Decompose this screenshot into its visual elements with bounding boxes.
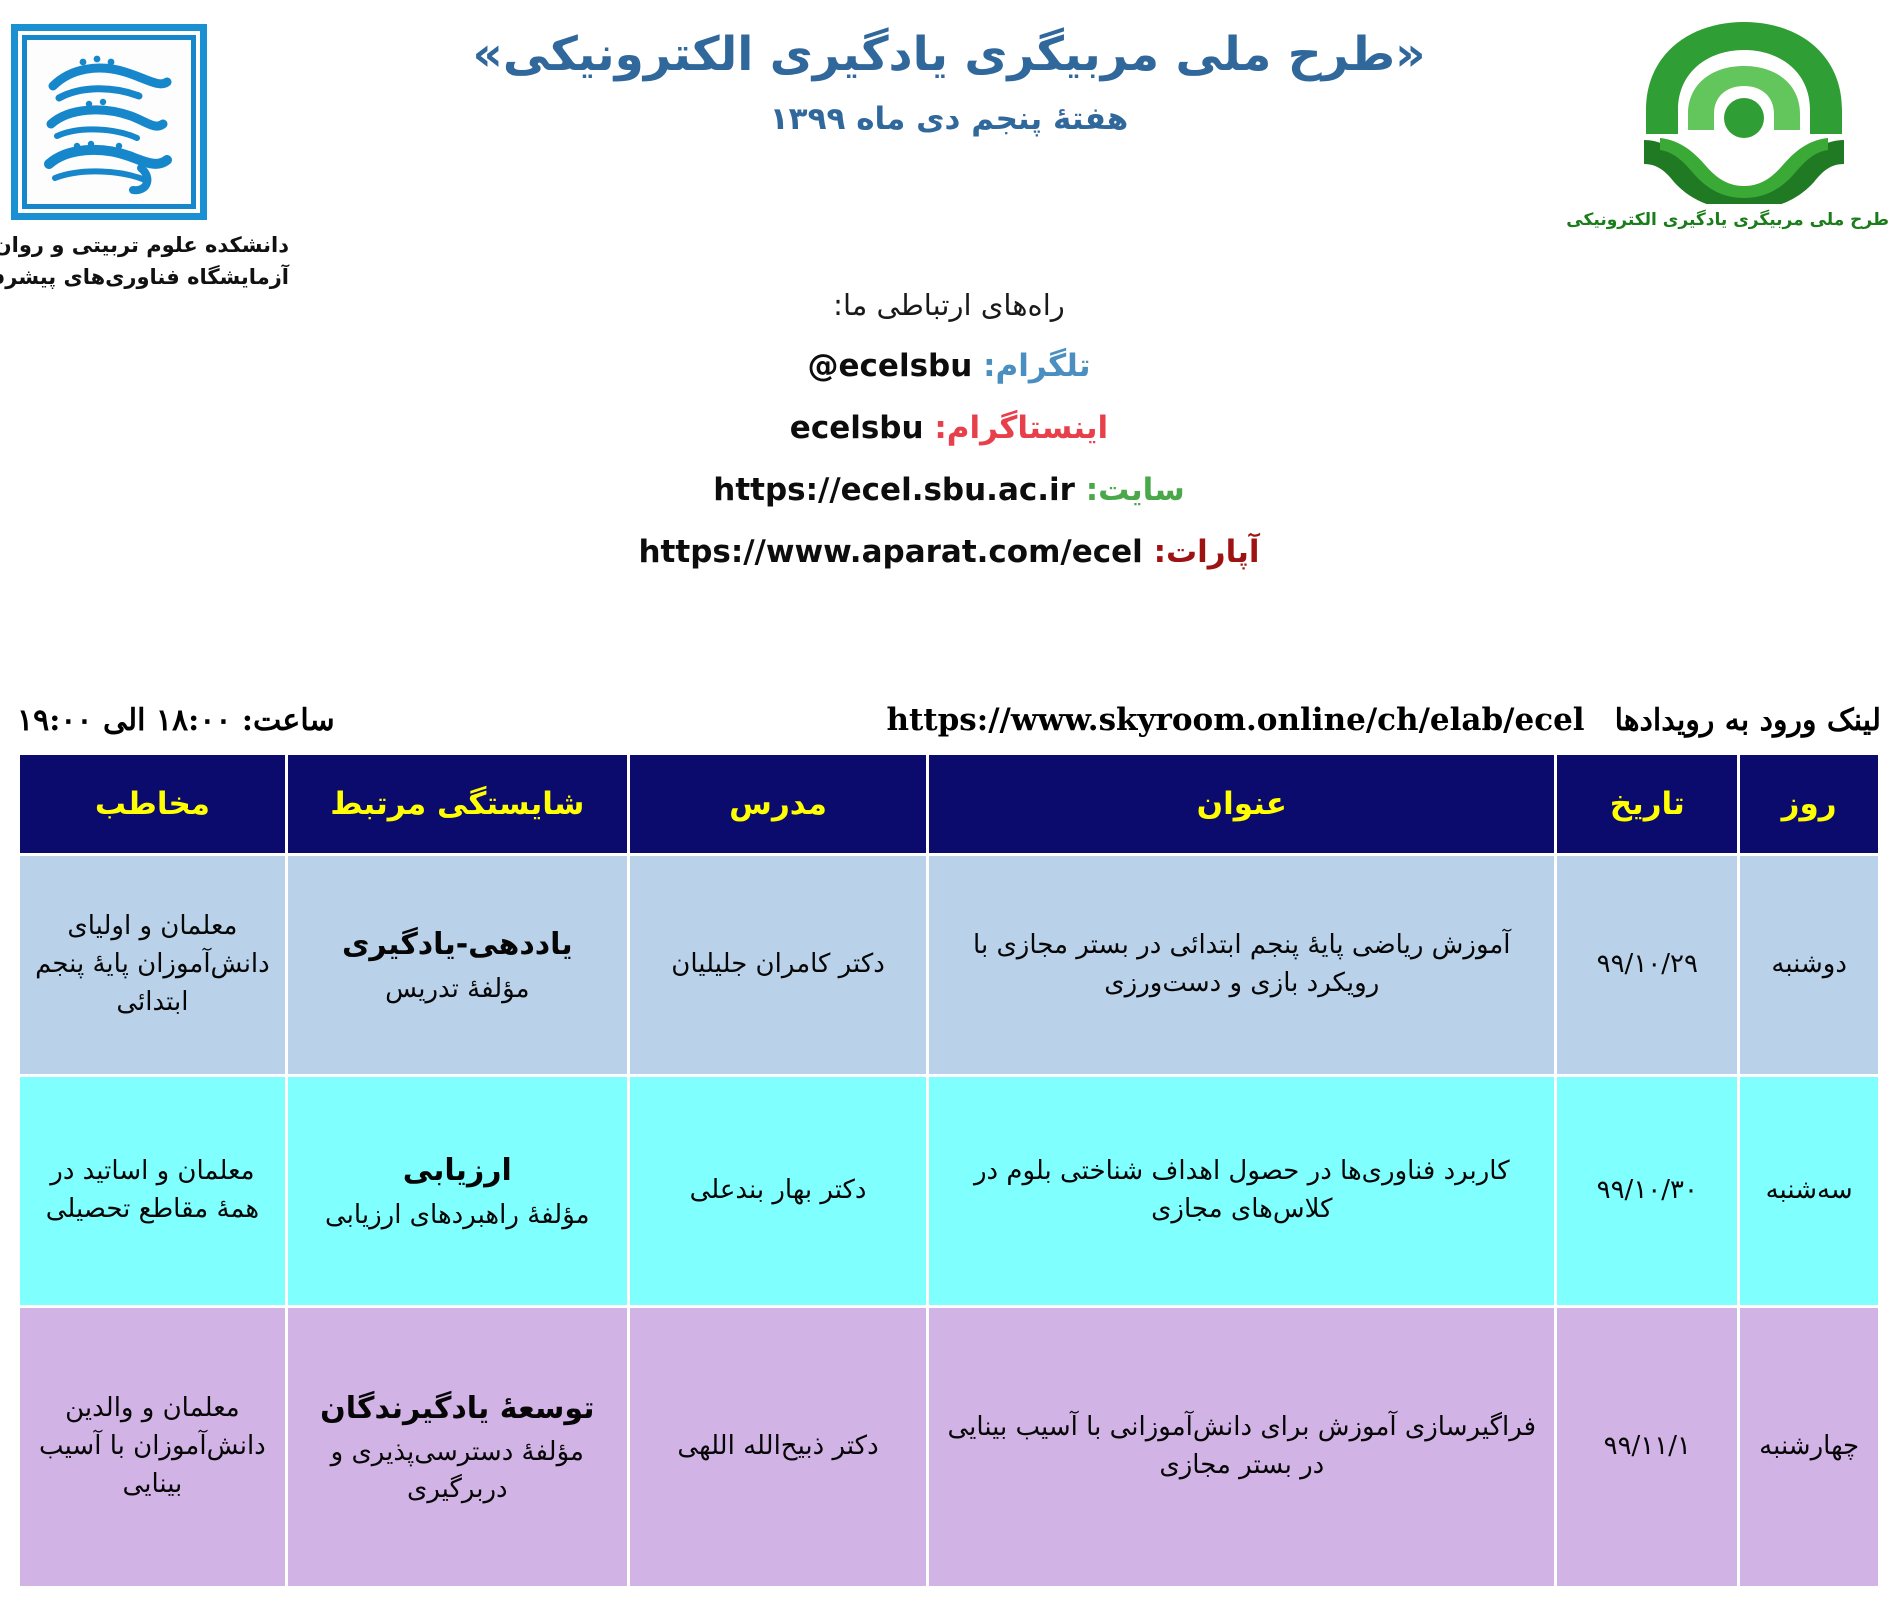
cell-competency: توسعهٔ یادگیرندگان مؤلفهٔ دسترسی‌پذیری و… (289, 1308, 628, 1586)
contact-label-website: سایت (1099, 472, 1186, 508)
page-title: «طرح ملی مربیگری یادگیری الکترونیکی» (450, 26, 1450, 85)
page-subtitle: هفتهٔ پنجم دی ماه ۱۳۹۹ (450, 101, 1450, 137)
shahid-beheshti-university-logo-icon (12, 24, 208, 220)
table-row: چهارشنبه ۹۹/۱۱/۱ فراگیرسازی آموزش برای د… (21, 1308, 1879, 1586)
cell-instructor: دکتر بهار بندعلی (631, 1077, 928, 1305)
competency-main: توسعهٔ یادگیرندگان (299, 1387, 618, 1431)
contact-section: راه‌های ارتباطی ما: تلگرام: @ecelsbu این… (400, 288, 1500, 596)
contact-sep-instagram: : (935, 410, 947, 446)
contact-row-instagram: اینستاگرام: ecelsbu (400, 410, 1500, 446)
event-link-bar: لینک ورود به رویدادها https://www.skyroo… (0, 694, 1900, 746)
column-header-date: تاریخ (1558, 755, 1738, 853)
table-header-row: روز تاریخ عنوان مدرس شایستگی مرتبط مخاطب (21, 755, 1879, 853)
competency-sub: مؤلفهٔ تدریس (299, 971, 618, 1007)
cell-title: کاربرد فناوری‌ها در حصول اهداف شناختی بل… (930, 1077, 1555, 1305)
event-link-label: لینک ورود به رویدادها (1616, 703, 1882, 738)
cell-instructor: دکتر ذبیح‌الله اللهی (631, 1308, 928, 1586)
cell-day: سه‌شنبه (1741, 1077, 1879, 1305)
schedule-table: روز تاریخ عنوان مدرس شایستگی مرتبط مخاطب… (18, 752, 1882, 1589)
cell-instructor: دکتر کامران جلیلیان (631, 856, 928, 1074)
contact-value-website[interactable]: https://ecel.sbu.ac.ir (714, 472, 1076, 508)
table-row: دوشنبه ۹۹/۱۰/۲۹ آموزش ریاضی پایهٔ پنجم ا… (21, 856, 1879, 1074)
faculty-name-line2: آزمایشگاه فناوری‌های پیشرفته یادگیری (0, 262, 290, 294)
cell-day: چهارشنبه (1741, 1308, 1879, 1586)
column-header-competency: شایستگی مرتبط (289, 755, 628, 853)
contact-row-aparat: آپارات: https://www.aparat.com/ecel (400, 534, 1500, 570)
cell-date: ۹۹/۱۰/۲۹ (1558, 856, 1738, 1074)
event-link-url[interactable]: https://www.skyroom.online/ch/elab/ecel (887, 702, 1585, 738)
event-time-label: ساعت: ۱۸:۰۰ الی ۱۹:۰۰ (18, 703, 336, 738)
faculty-name-line1: دانشکده علوم تربیتی و روان‌شناسی (0, 230, 290, 262)
cell-competency: ارزیابی مؤلفهٔ راهبردهای ارزیابی (289, 1077, 628, 1305)
competency-sub: مؤلفهٔ دسترسی‌پذیری و دربرگیری (299, 1434, 618, 1507)
cell-competency: یاددهی-یادگیری مؤلفهٔ تدریس (289, 856, 628, 1074)
contact-value-telegram[interactable]: @ecelsbu (809, 348, 974, 384)
cell-day: دوشنبه (1741, 856, 1879, 1074)
contact-value-aparat[interactable]: https://www.aparat.com/ecel (639, 534, 1143, 570)
cell-title: فراگیرسازی آموزش برای دانش‌آموزانی با آس… (930, 1308, 1555, 1586)
cell-date: ۹۹/۱۱/۱ (1558, 1308, 1738, 1586)
column-header-day: روز (1741, 755, 1879, 853)
contact-label-telegram: تلگرام (997, 348, 1092, 384)
column-header-audience: مخاطب (21, 755, 286, 853)
cell-audience: معلمان و اساتید در همهٔ مقاطع تحصیلی (21, 1077, 286, 1305)
cell-date: ۹۹/۱۰/۳۰ (1558, 1077, 1738, 1305)
column-header-instructor: مدرس (631, 755, 928, 853)
poster-header: دانشکده علوم تربیتی و روان‌شناسی آزمایشگ… (0, 0, 1900, 290)
title-block: «طرح ملی مربیگری یادگیری الکترونیکی» هفت… (450, 26, 1450, 137)
university-logo-block: دانشکده علوم تربیتی و روان‌شناسی آزمایشگ… (0, 18, 290, 293)
table-row: سه‌شنبه ۹۹/۱۰/۳۰ کاربرد فناوری‌ها در حصو… (21, 1077, 1879, 1305)
contact-label-aparat: آپارات (1167, 534, 1261, 570)
competency-main: ارزیابی (299, 1149, 618, 1193)
contact-sep-website: : (1087, 472, 1099, 508)
ecel-logo-block: طرح ملی مربیگری یادگیری الکترونیکی (1600, 14, 1890, 230)
competency-sub: مؤلفهٔ راهبردهای ارزیابی (299, 1197, 618, 1233)
cell-audience: معلمان و والدین دانش‌آموزان با آسیب بینا… (21, 1308, 286, 1586)
contact-row-website: سایت: https://ecel.sbu.ac.ir (400, 472, 1500, 508)
competency-main: یاددهی-یادگیری (299, 923, 618, 967)
ecel-program-logo-icon (1625, 14, 1865, 204)
cell-audience: معلمان و اولیای دانش‌آموزان پایهٔ پنجم ا… (21, 856, 286, 1074)
contact-label-instagram: اینستاگرام (948, 410, 1109, 446)
contact-heading: راه‌های ارتباطی ما: (400, 288, 1500, 322)
cell-title: آموزش ریاضی پایهٔ پنجم ابتدائی در بستر م… (930, 856, 1555, 1074)
schedule-table-wrapper: روز تاریخ عنوان مدرس شایستگی مرتبط مخاطب… (18, 752, 1882, 1589)
column-header-title: عنوان (930, 755, 1555, 853)
contact-sep-aparat: : (1155, 534, 1167, 570)
contact-value-instagram[interactable]: ecelsbu (791, 410, 925, 446)
ecel-logo-caption: طرح ملی مربیگری یادگیری الکترونیکی (1600, 210, 1890, 230)
contact-sep-telegram: : (984, 348, 996, 384)
contact-row-telegram: تلگرام: @ecelsbu (400, 348, 1500, 384)
